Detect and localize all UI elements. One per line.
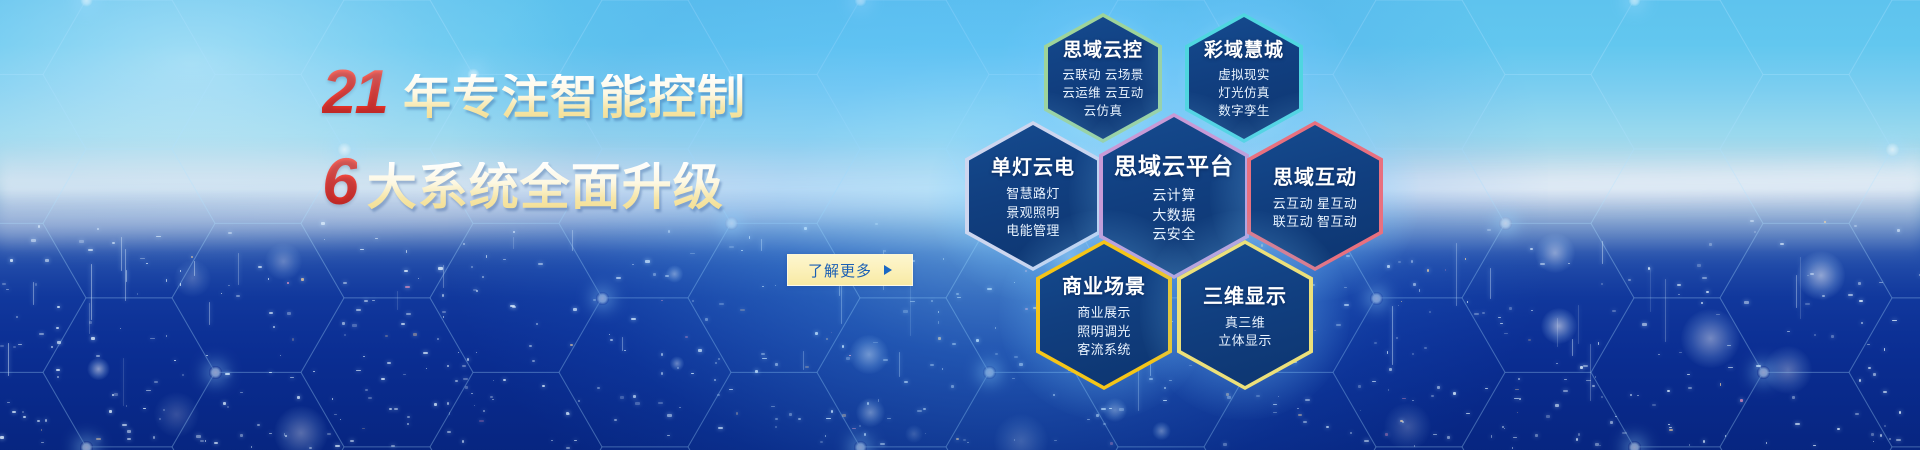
hexagon-subtitle-line: 云互动 星互动 — [1273, 195, 1357, 213]
hexagon-title: 三维显示 — [1203, 280, 1287, 309]
hexagon-title: 商业场景 — [1062, 270, 1146, 299]
hexagon-subtitle-line: 商业展示 — [1062, 304, 1146, 322]
hexagon-subtitle-line: 立体显示 — [1203, 332, 1287, 350]
hexagon-subtitle-line: 智慧路灯 — [991, 185, 1075, 203]
hexagon-subtitle-line: 照明调光 — [1062, 323, 1146, 341]
hexagon-subtitle-line: 虚拟现实 — [1204, 67, 1284, 85]
hexagon-title: 彩域慧城 — [1204, 35, 1284, 62]
hexagon-title: 单灯云电 — [991, 151, 1075, 180]
hexagon-cluster: 思域云控云联动 云场景云运维 云互动云仿真彩域慧城虚拟现实灯光仿真数字孪生单灯云… — [0, 0, 1920, 450]
hexagon-subtitle-line: 云联动 云场景 — [1062, 67, 1143, 85]
hexagon-subtitle-line: 真三维 — [1203, 314, 1287, 332]
hexagon-content: 三维显示真三维立体显示 — [1197, 280, 1293, 351]
hexagon-subtitle-line: 客流系统 — [1062, 341, 1146, 359]
hexagon-title: 思域互动 — [1273, 161, 1357, 190]
hero-banner: 21 年专注智能控制 6 大系统全面升级 了解更多 思域云控云联动 云场景云运维… — [0, 0, 1920, 450]
hexagon-content: 商业场景商业展示照明调光客流系统 — [1056, 270, 1152, 359]
hexagon-title: 思域云控 — [1062, 35, 1143, 62]
